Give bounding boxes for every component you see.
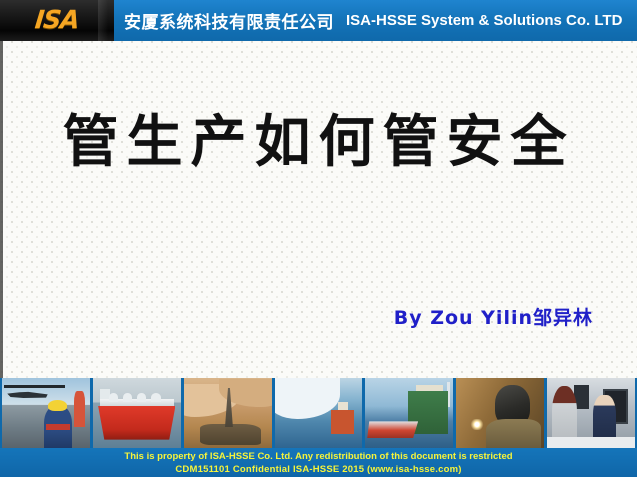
helicopter-firefighter-photo [2, 378, 90, 448]
slide-header: ISA 安厦系统科技有限责任公司 ISA-HSSE System & Solut… [0, 0, 637, 41]
platform-supply-vessel-photo [365, 378, 453, 448]
welder-photo [456, 378, 544, 448]
isa-logo-panel: ISA [0, 0, 114, 41]
desert-drilling-rig-photo [184, 378, 272, 448]
isa-logo-icon: ISA [34, 7, 80, 34]
presentation-slide: ISA 安厦系统科技有限责任公司 ISA-HSSE System & Solut… [0, 0, 637, 477]
company-name-english: ISA-HSSE System & Solutions Co. LTD [346, 12, 622, 29]
footer-line-1: This is property of ISA-HSSE Co. Ltd. An… [0, 450, 637, 463]
footer-line-2: CDM151101 Confidential ISA-HSSE 2015 (ww… [0, 463, 637, 476]
header-title-bar: 安厦系统科技有限责任公司 ISA-HSSE System & Solutions… [114, 0, 637, 41]
page-title: 管生产如何管安全 [0, 112, 637, 174]
photo-strip [0, 378, 637, 448]
lng-carrier-photo [93, 378, 181, 448]
office-workers-photo [547, 378, 635, 448]
slide-footer: This is property of ISA-HSSE Co. Ltd. An… [0, 448, 637, 477]
company-name-chinese: 安厦系统科技有限责任公司 [124, 8, 334, 33]
offshore-sea-platform-photo [275, 378, 363, 448]
author-byline: By Zou Yilin邹异林 [394, 303, 593, 330]
